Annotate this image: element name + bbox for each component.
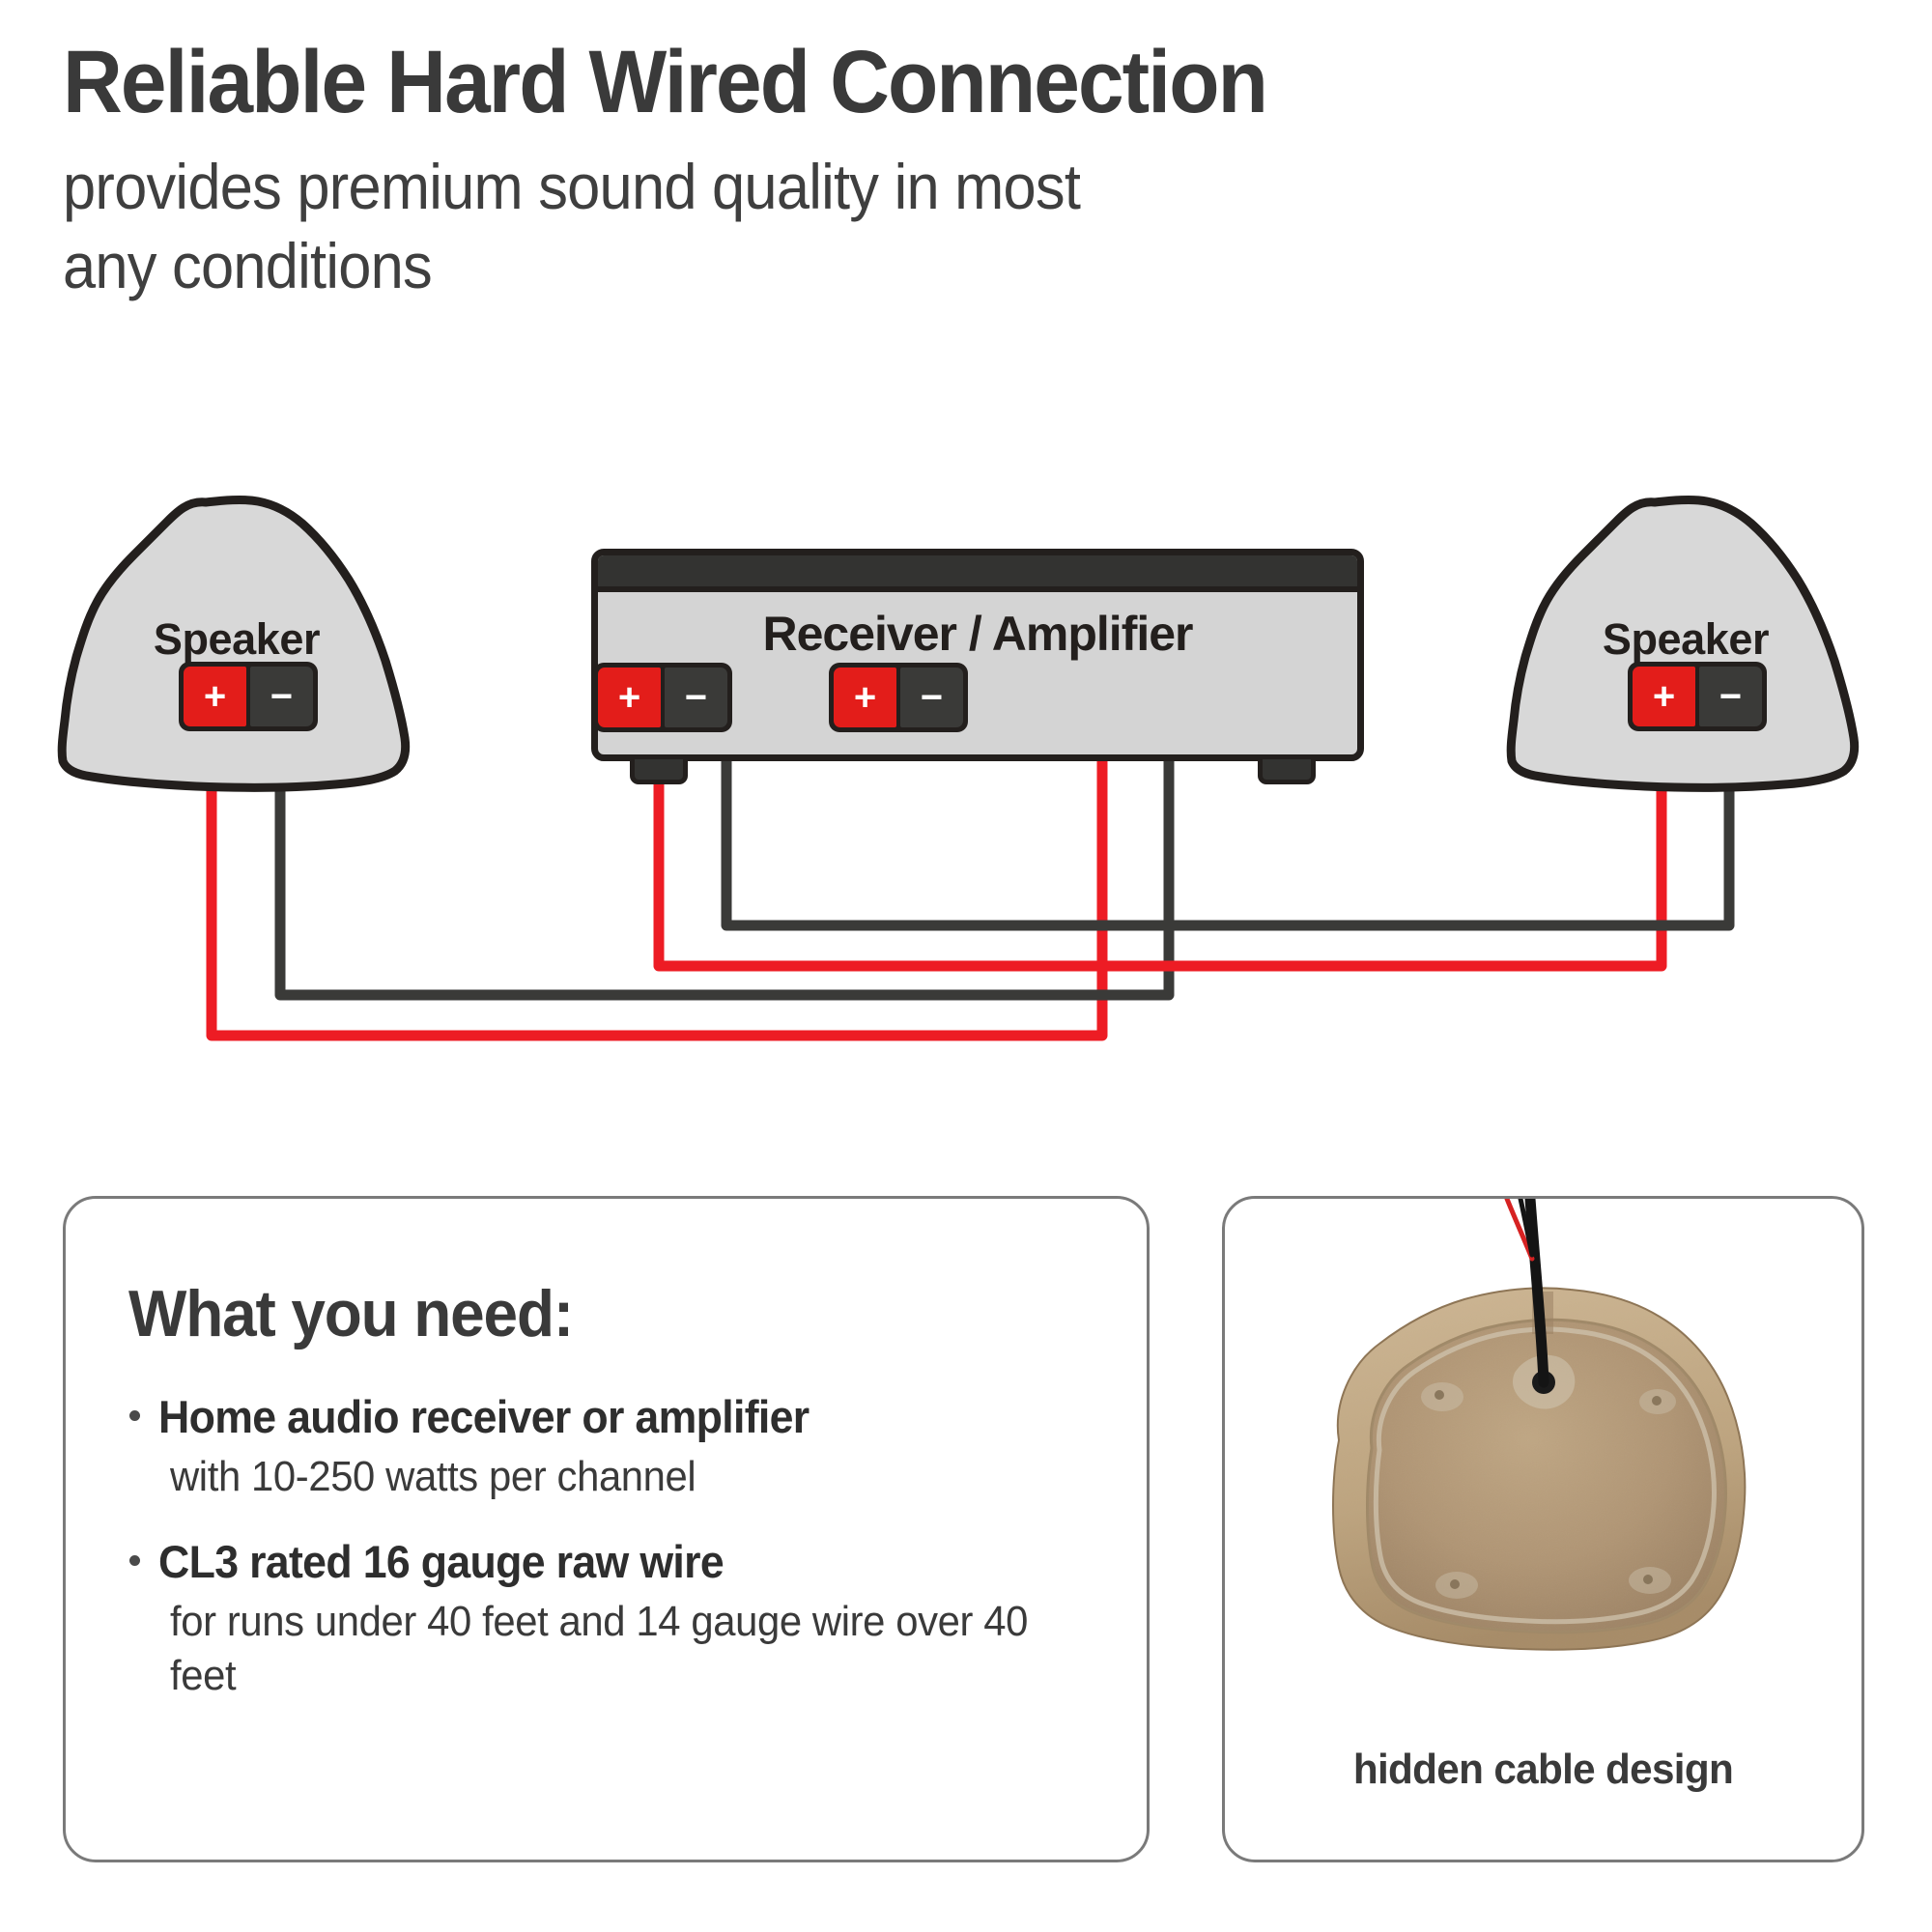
bullet-dot-icon xyxy=(129,1555,140,1566)
list-item: CL3 rated 16 gauge raw wire for runs und… xyxy=(124,1537,1109,1703)
right-speaker-terminal-block[interactable]: + − xyxy=(1628,662,1767,731)
amplifier-left-plus-terminal[interactable]: + xyxy=(598,668,661,727)
amplifier-left-terminal-block[interactable]: + − xyxy=(593,663,732,732)
amplifier-foot-left xyxy=(630,759,688,784)
subtitle-line-1: provides premium sound quality in most xyxy=(63,147,1456,227)
page-subtitle: provides premium sound quality in most a… xyxy=(63,147,1456,306)
right-speaker: Speaker xyxy=(1502,493,1869,802)
amplifier-top-bar xyxy=(598,555,1357,592)
bullet-dot-icon xyxy=(129,1410,140,1421)
left-speaker-label: Speaker xyxy=(53,614,420,665)
hidden-cable-caption: hidden cable design xyxy=(1237,1746,1849,1794)
requirements-list: Home audio receiver or amplifier with 10… xyxy=(124,1392,1109,1736)
subtitle-line-2: any conditions xyxy=(63,226,1456,306)
hidden-cable-card: hidden cable design xyxy=(1222,1196,1864,1862)
left-speaker: Speaker xyxy=(53,493,420,802)
left-speaker-terminal-block[interactable]: + − xyxy=(179,662,318,731)
page-title: Reliable Hard Wired Connection xyxy=(63,37,1751,129)
infographic-root: Reliable Hard Wired Connection provides … xyxy=(0,0,1932,1932)
amplifier-right-minus-terminal[interactable]: − xyxy=(900,668,963,727)
requirement-0-main: Home audio receiver or amplifier xyxy=(158,1392,1062,1443)
rock-speaker-photo xyxy=(1225,1199,1861,1749)
connection-diagram: Speaker + − Speaker + − Receiver / Ampli… xyxy=(0,464,1932,1063)
what-you-need-card: What you need: Home audio receiver or am… xyxy=(63,1196,1150,1862)
rock-underside-illustration xyxy=(1225,1199,1861,1749)
amplifier-right-terminal-block[interactable]: + − xyxy=(829,663,968,732)
left-speaker-minus-terminal[interactable]: − xyxy=(250,667,313,726)
amplifier-right-plus-terminal[interactable]: + xyxy=(834,668,896,727)
list-item: Home audio receiver or amplifier with 10… xyxy=(124,1392,1109,1504)
amplifier-title: Receiver / Amplifier xyxy=(598,606,1357,662)
requirement-1-sub: for runs under 40 feet and 14 gauge wire… xyxy=(170,1595,1062,1704)
amplifier-foot-right xyxy=(1258,759,1316,784)
right-speaker-plus-terminal[interactable]: + xyxy=(1633,667,1695,726)
requirement-0-sub: with 10-250 watts per channel xyxy=(170,1450,1062,1504)
what-you-need-title: What you need: xyxy=(128,1276,573,1351)
header: Reliable Hard Wired Connection provides … xyxy=(63,37,1879,306)
requirement-1-main: CL3 rated 16 gauge raw wire xyxy=(158,1537,1062,1588)
right-speaker-label: Speaker xyxy=(1502,614,1869,665)
right-speaker-minus-terminal[interactable]: − xyxy=(1699,667,1762,726)
amplifier-left-minus-terminal[interactable]: − xyxy=(665,668,727,727)
left-speaker-plus-terminal[interactable]: + xyxy=(184,667,246,726)
